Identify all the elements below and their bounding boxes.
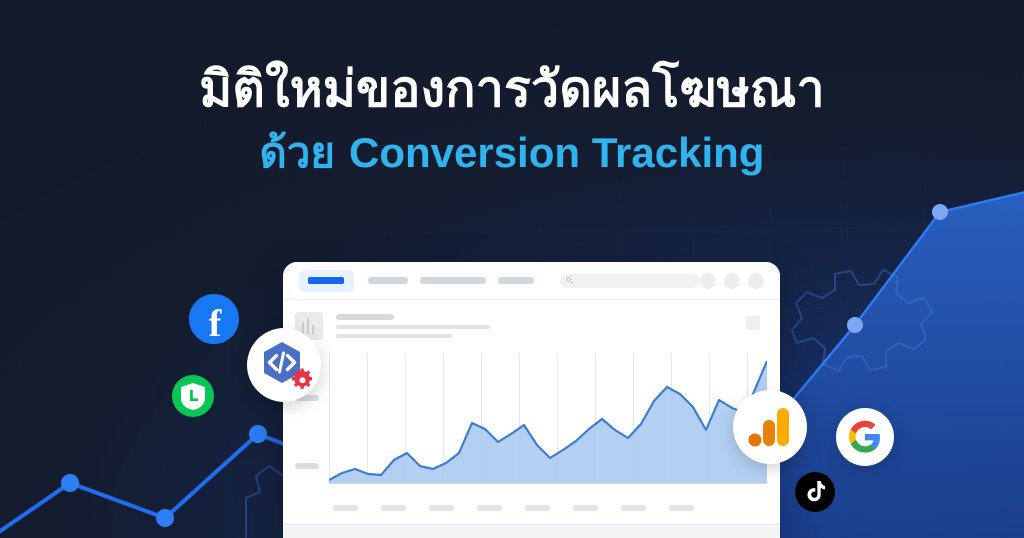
dashboard-body <box>283 300 780 538</box>
chart-region <box>283 347 780 533</box>
nav-item-placeholder-2[interactable] <box>420 277 485 284</box>
x-axis-label-7 <box>621 505 646 511</box>
avatar-1[interactable] <box>700 273 716 289</box>
nav-item-placeholder-1[interactable] <box>368 277 408 284</box>
page-subtitle-thai: ด้วย <box>260 129 335 176</box>
x-axis-label-3 <box>429 505 454 511</box>
facebook-icon[interactable]: f <box>189 294 239 344</box>
title-placeholder-line-3 <box>336 334 452 338</box>
nav-item-active-bar <box>308 277 344 284</box>
page-title: มิติใหม่ของการวัดผลโฆษณา <box>0 62 1024 117</box>
gear-accent-icon <box>292 369 312 389</box>
tiktok-icon[interactable] <box>795 472 835 512</box>
avatar-3[interactable] <box>748 273 764 289</box>
dashboard-header <box>283 300 780 343</box>
x-axis-label-2 <box>381 505 406 511</box>
search-input[interactable] <box>560 274 700 288</box>
title-placeholder-line-2 <box>336 325 490 329</box>
nav-item-active[interactable] <box>299 270 354 292</box>
line-shield-glyph <box>181 383 205 410</box>
dashboard-title-placeholders <box>336 312 746 343</box>
browser-toolbar <box>283 262 780 300</box>
google-analytics-icon[interactable] <box>733 390 807 464</box>
page-subtitle: ด้วยConversion Tracking <box>0 130 1024 176</box>
area-chart <box>329 353 767 495</box>
browser-window-mockup <box>283 262 780 538</box>
nav-item-placeholder-3[interactable] <box>498 277 535 284</box>
google-icon[interactable] <box>836 408 894 466</box>
hero-text-block: มิติใหม่ของการวัดผลโฆษณา ด้วยConversion … <box>0 62 1024 176</box>
code-hexagon-glyph <box>256 337 312 393</box>
search-icon <box>566 277 573 284</box>
title-placeholder-line-1 <box>336 314 394 320</box>
poster-canvas: มิติใหม่ของการวัดผลโฆษณา ด้วยConversion … <box>0 0 1024 538</box>
developer-code-icon[interactable] <box>247 328 321 402</box>
x-axis-label-5 <box>525 505 550 511</box>
analytics-bars-glyph <box>747 404 793 450</box>
x-axis-labels <box>333 505 694 511</box>
x-axis-label-1 <box>333 505 358 511</box>
gear-outline-icon-2 <box>792 270 932 371</box>
status-bar <box>283 524 780 538</box>
x-axis-label-4 <box>477 505 502 511</box>
x-axis-label-8 <box>669 505 694 511</box>
tiktok-note-glyph <box>805 481 825 503</box>
google-g-glyph <box>848 420 882 454</box>
page-subtitle-en: Conversion Tracking <box>349 129 764 176</box>
line-icon[interactable] <box>172 375 214 417</box>
options-square[interactable] <box>746 316 760 330</box>
facebook-icon-letter: f <box>209 305 222 343</box>
toolbar-avatars <box>700 273 764 289</box>
avatar-2[interactable] <box>724 273 740 289</box>
x-axis-label-6 <box>573 505 598 511</box>
